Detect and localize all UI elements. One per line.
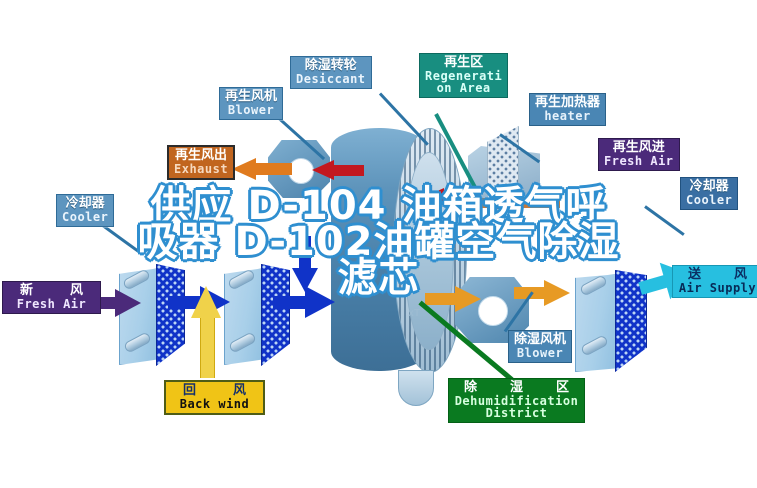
label-regeneration-blower: 再生风机 Blower xyxy=(219,87,283,120)
label-regeneration-area-en-2: on Area xyxy=(425,82,502,94)
label-back-wind: 回 风 Back wind xyxy=(164,380,265,415)
exhaust-arrow xyxy=(232,158,292,180)
label-regeneration-area: 再生区 Regenerati on Area xyxy=(419,53,508,98)
back-wind-arrow xyxy=(191,286,221,378)
regen-inlet-arrow xyxy=(424,188,476,206)
label-regeneration-blower-en: Blower xyxy=(225,104,277,116)
label-desiccant-wheel-en: Desiccant xyxy=(296,73,366,85)
label-regeneration-heater-cn: 再生加热器 xyxy=(535,96,600,110)
label-air-supply-en: Air Supply xyxy=(678,282,757,294)
label-regeneration-fresh-air-cn: 再生风进 xyxy=(604,141,674,155)
dehum-out-arrow-1 xyxy=(425,286,481,312)
label-fresh-air-inlet: 新 风 Fresh Air xyxy=(2,281,101,314)
label-regeneration-fresh-air: 再生风进 Fresh Air xyxy=(598,138,680,171)
label-regeneration-exhaust-cn: 再生风出 xyxy=(174,149,228,163)
label-dehumidification-district-en-2: District xyxy=(454,407,579,419)
label-fresh-air-inlet-en: Fresh Air xyxy=(8,298,95,310)
label-regeneration-area-cn: 再生区 xyxy=(425,56,502,70)
wheel-drip-shape xyxy=(398,370,434,406)
label-fresh-air-inlet-cn: 新 风 xyxy=(8,284,95,298)
label-back-wind-en: Back wind xyxy=(171,398,258,410)
label-cooler-left-cn: 冷却器 xyxy=(62,197,108,211)
label-dehumidification-district: 除 湿 区 Dehumidification District xyxy=(448,378,585,423)
process-air-down-arrow xyxy=(292,236,318,292)
label-dehumidification-blower-en: Blower xyxy=(514,347,566,359)
label-dehumidification-blower: 除湿风机 Blower xyxy=(508,330,572,363)
label-dehumidification-blower-cn: 除湿风机 xyxy=(514,333,566,347)
label-air-supply: 送 风 Air Supply xyxy=(672,265,757,298)
desiccant-wheel-core xyxy=(404,152,454,350)
label-desiccant-wheel-cn: 除湿转轮 xyxy=(296,59,366,73)
label-regeneration-exhaust-en: Exhaust xyxy=(174,163,228,175)
label-regeneration-exhaust: 再生风出 Exhaust xyxy=(167,145,235,180)
label-cooler-left-en: Cooler xyxy=(62,211,108,223)
heater-base-orange xyxy=(468,198,560,208)
label-cooler-right: 冷却器 Cooler xyxy=(680,177,738,210)
label-regeneration-heater: 再生加热器 heater xyxy=(529,93,606,126)
label-dehumidification-district-cn: 除 湿 区 xyxy=(454,381,579,395)
label-regeneration-heater-en: heater xyxy=(535,110,600,122)
label-cooler-right-cn: 冷却器 xyxy=(686,180,732,194)
regen-hot-arrow xyxy=(312,160,364,180)
label-regeneration-fresh-air-en: Fresh Air xyxy=(604,155,674,167)
leader-cooler-right xyxy=(644,205,685,236)
label-cooler-right-en: Cooler xyxy=(686,194,732,206)
label-desiccant-wheel: 除湿转轮 Desiccant xyxy=(290,56,372,89)
dehum-blower-hub xyxy=(478,296,508,326)
label-regeneration-blower-cn: 再生风机 xyxy=(225,90,277,104)
label-air-supply-cn: 送 风 xyxy=(678,268,757,282)
label-back-wind-cn: 回 风 xyxy=(171,384,258,398)
label-cooler-left: 冷却器 Cooler xyxy=(56,194,114,227)
diagram-canvas: xT xyxy=(0,0,757,488)
